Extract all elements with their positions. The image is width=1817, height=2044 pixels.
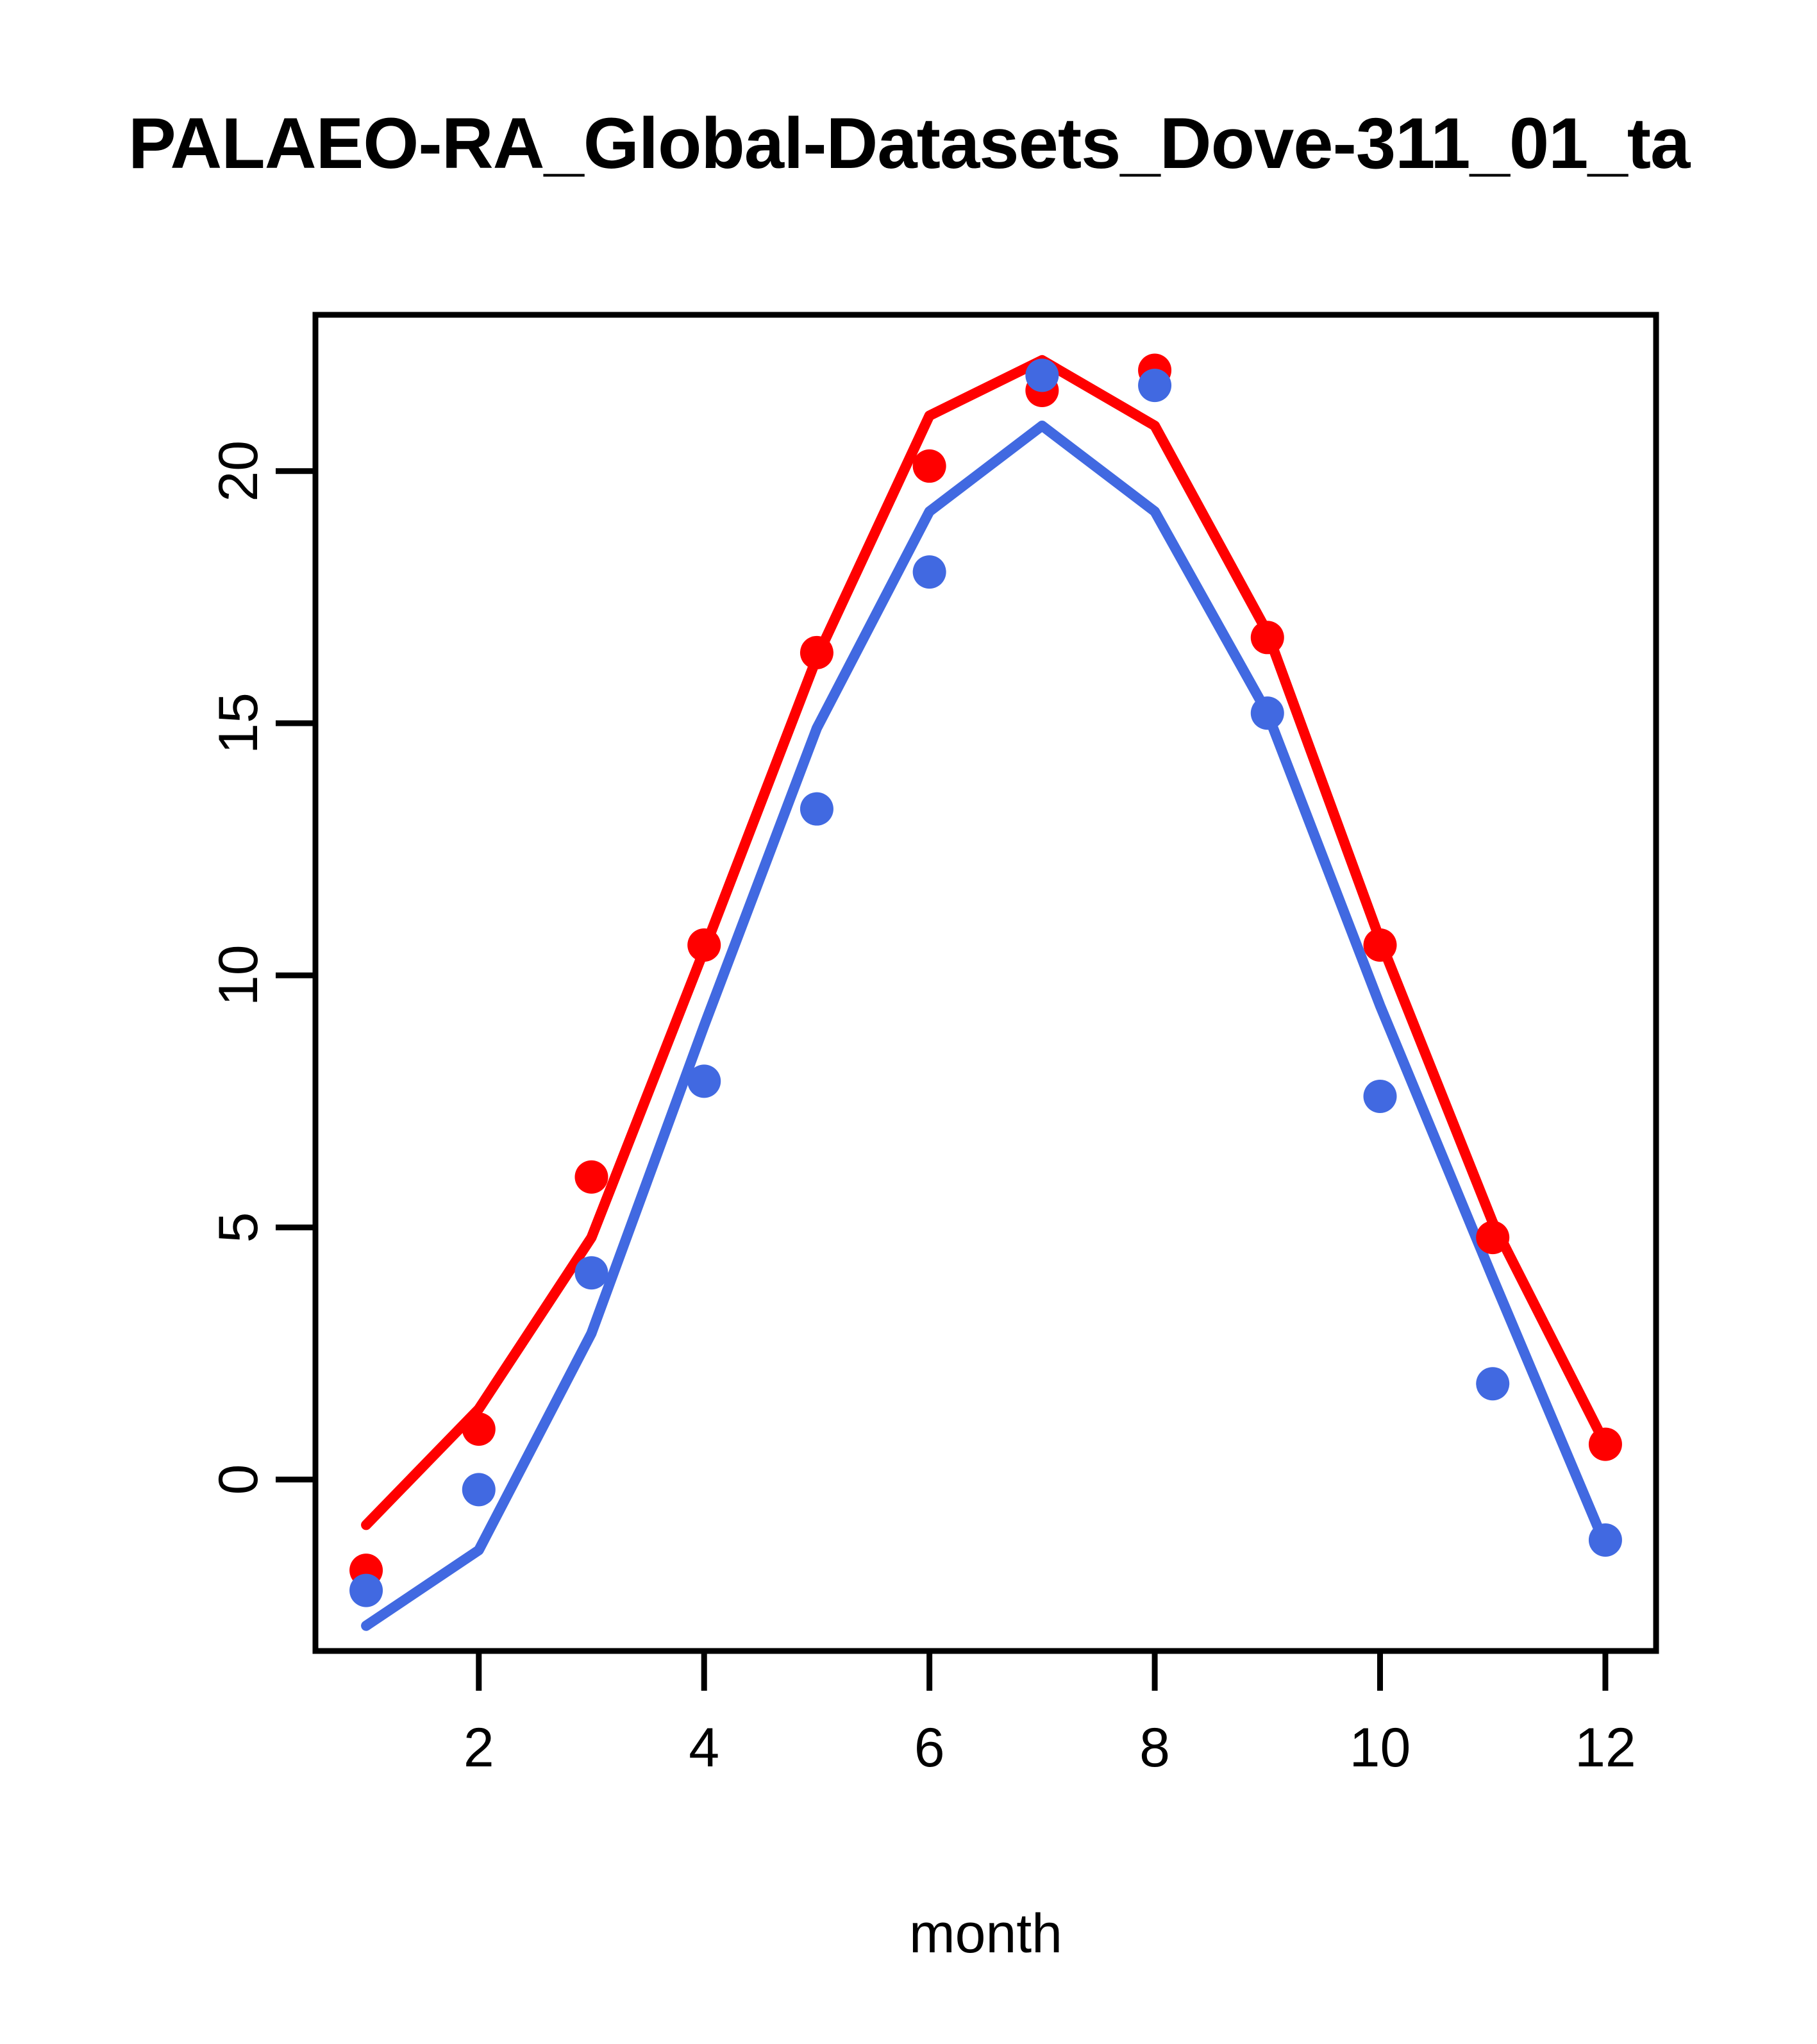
data-point-red-points <box>800 636 833 669</box>
data-point-red-points <box>1589 1428 1622 1461</box>
y-axis-tick-label: 10 <box>208 944 269 1006</box>
data-point-red-points <box>1251 621 1284 654</box>
x-axis-title: month <box>909 1903 1062 1964</box>
data-point-red-points <box>1476 1221 1509 1254</box>
data-point-blue-points <box>800 792 833 826</box>
data-point-blue-points <box>687 1064 721 1098</box>
data-point-red-points <box>1364 928 1397 962</box>
x-axis-tick-label: 10 <box>1350 1717 1411 1779</box>
data-point-blue-points <box>349 1574 383 1607</box>
plot-border <box>315 315 1656 1651</box>
data-point-blue-points <box>462 1473 496 1506</box>
data-point-blue-points <box>1138 369 1171 402</box>
data-point-blue-points <box>1589 1523 1622 1557</box>
data-point-blue-points <box>1251 696 1284 730</box>
data-point-blue-points <box>1476 1367 1509 1400</box>
y-axis-tick-label: 15 <box>208 692 269 754</box>
x-axis-tick-label: 6 <box>914 1717 945 1779</box>
data-point-blue-points <box>575 1256 608 1289</box>
y-axis-tick-label: 20 <box>208 440 269 502</box>
data-point-red-points <box>687 928 721 962</box>
x-axis-tick-label: 8 <box>1139 1717 1170 1779</box>
y-axis-tick-label: 0 <box>208 1464 269 1495</box>
data-point-red-points <box>462 1412 496 1446</box>
x-axis-tick-label: 12 <box>1575 1717 1636 1779</box>
chart-plot-area: 2468101205101520month <box>0 0 1817 2044</box>
x-axis-tick-label: 2 <box>464 1717 494 1779</box>
data-point-red-points <box>913 449 946 483</box>
data-point-blue-points <box>1025 358 1059 392</box>
y-axis-tick-label: 5 <box>208 1212 269 1243</box>
series-line-red-line <box>366 360 1605 1525</box>
data-point-blue-points <box>1364 1080 1397 1113</box>
chart-page: PALAEO-RA_Global-Datasets_Dove-311_01_ta… <box>0 0 1817 2044</box>
data-point-blue-points <box>913 555 946 589</box>
x-axis-tick-label: 4 <box>689 1717 719 1779</box>
data-point-red-points <box>575 1160 608 1194</box>
